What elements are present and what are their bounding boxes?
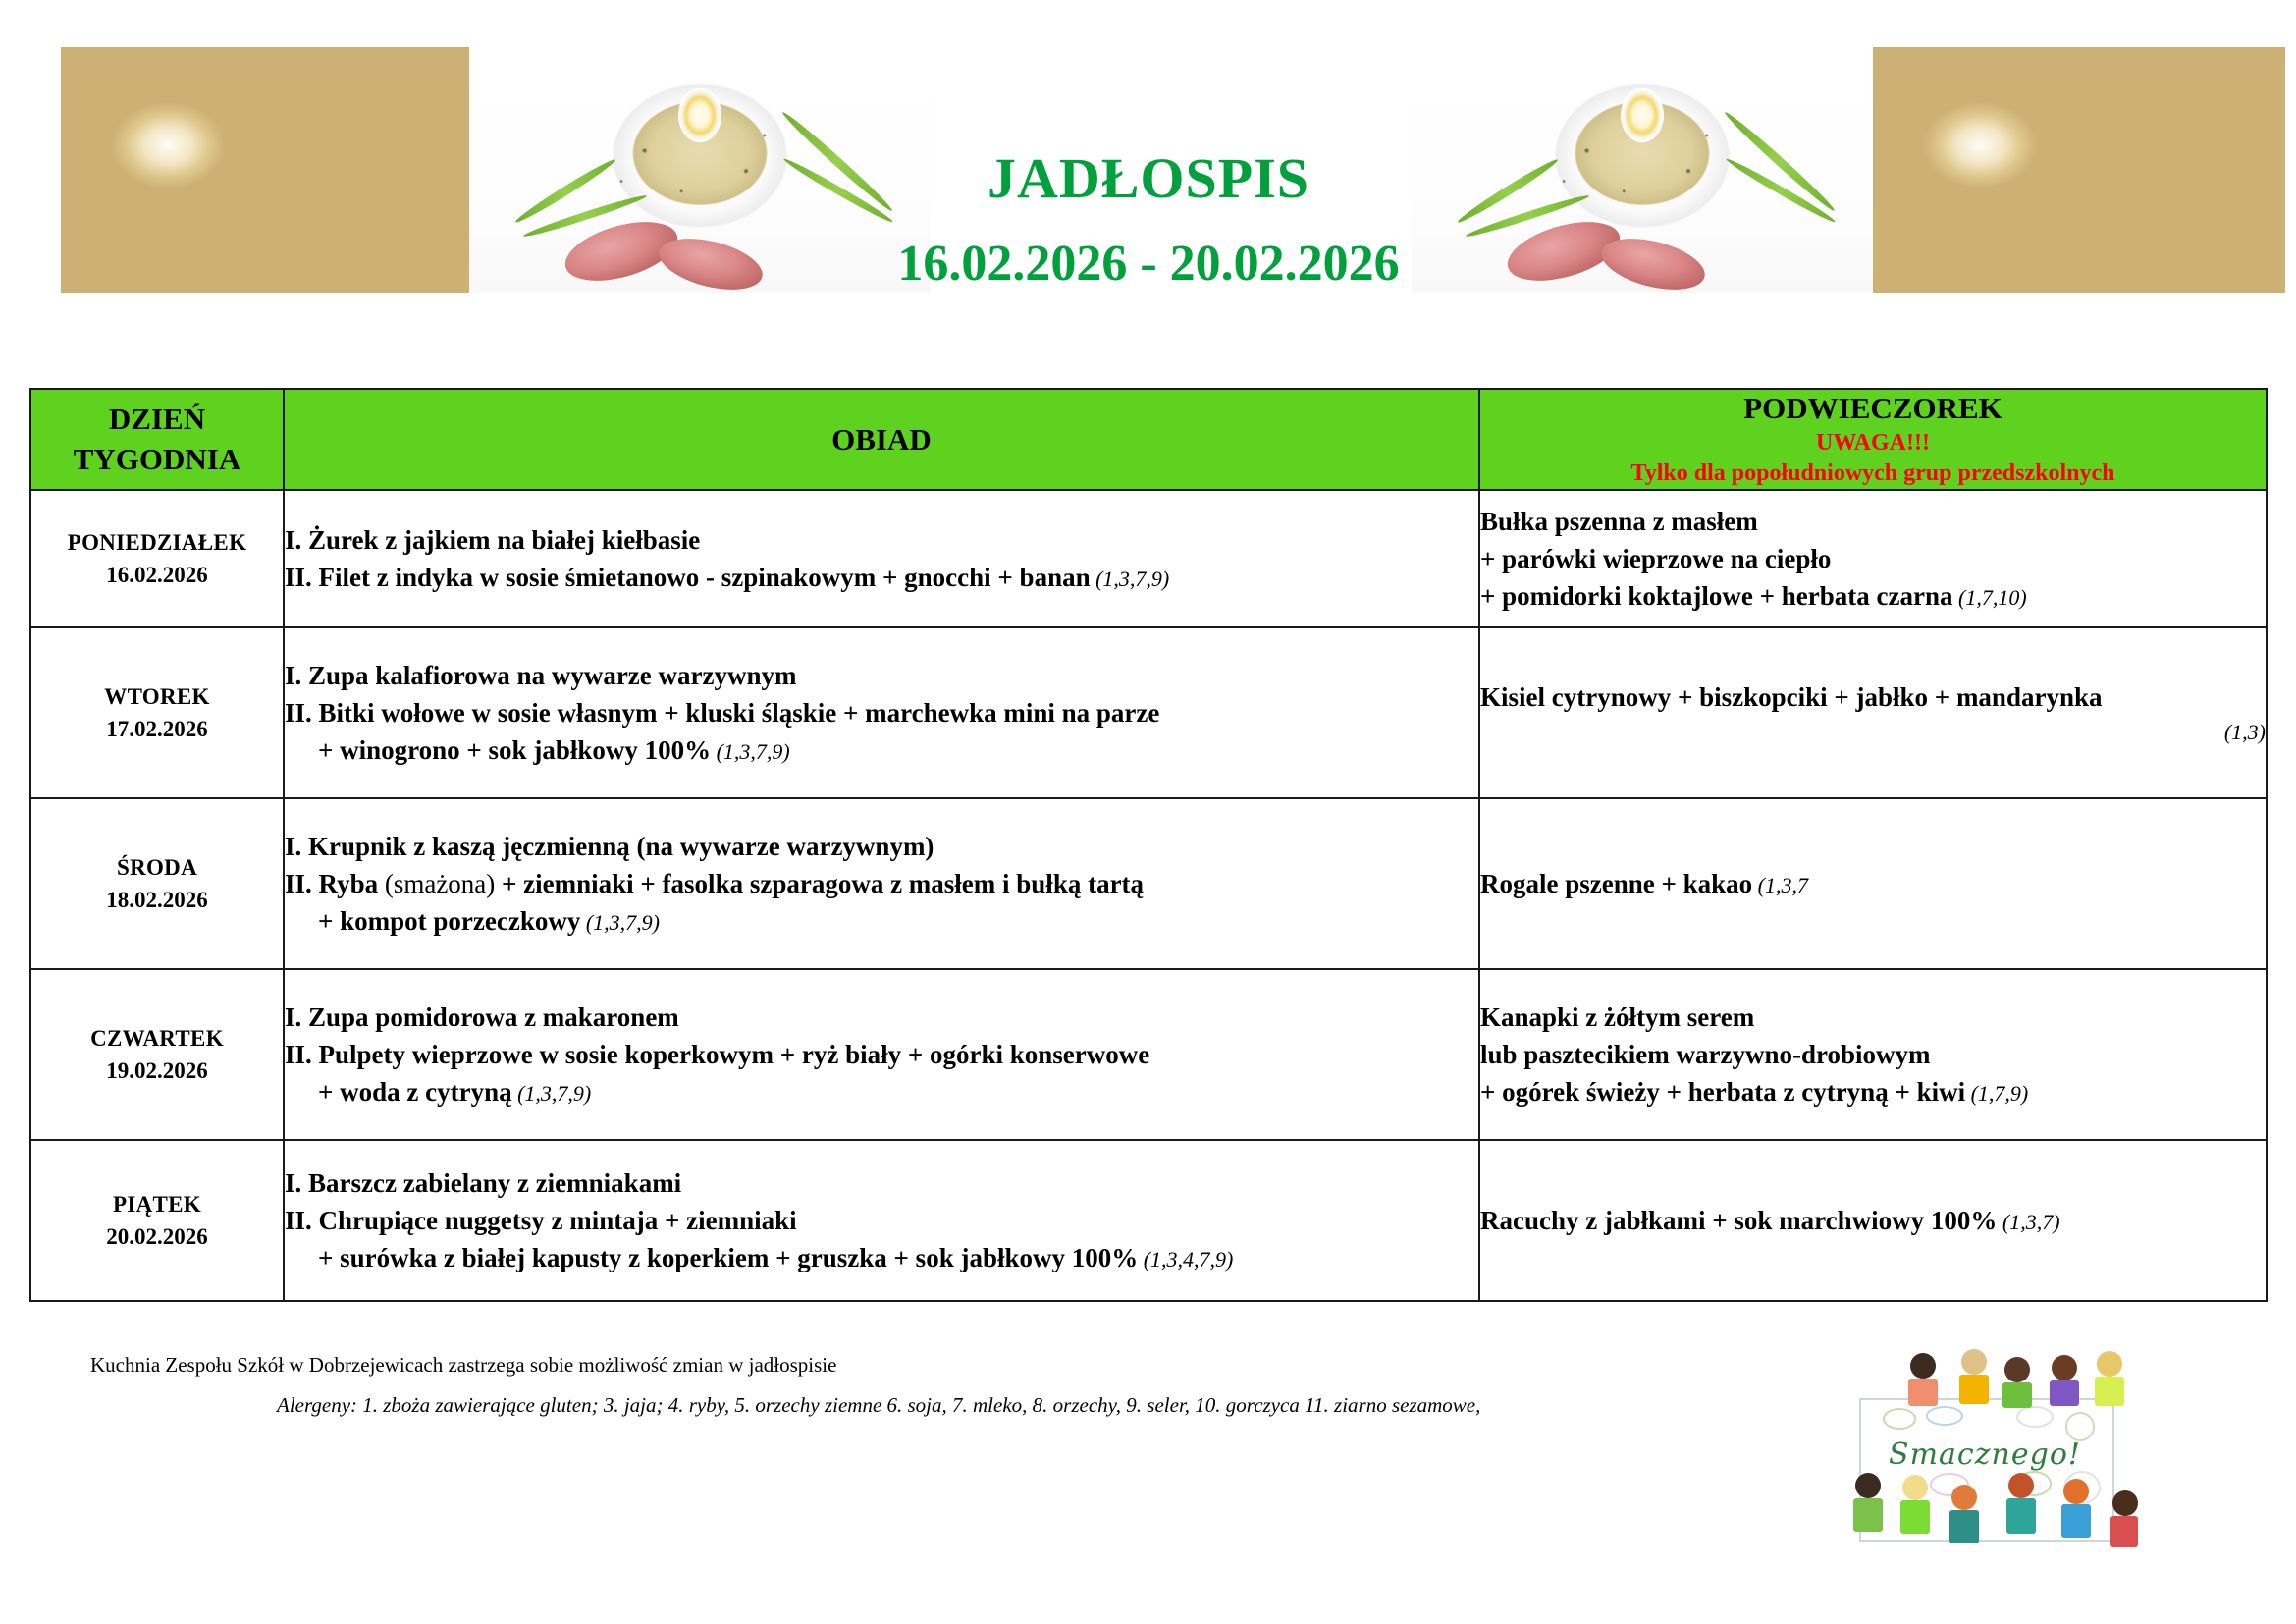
header-snack-warning: UWAGA!!! bbox=[1480, 428, 2266, 459]
day-cell: PIĄTEK20.02.2026 bbox=[30, 1140, 284, 1301]
menu-line: Kanapki z żółtym serem bbox=[1480, 999, 2266, 1036]
kid-body-1 bbox=[1908, 1379, 1938, 1406]
day-name: ŚRODA bbox=[31, 851, 283, 884]
kid-body-4 bbox=[2050, 1380, 2079, 1406]
snack-cell: Bułka pszenna z masłem+ parówki wieprzow… bbox=[1479, 490, 2267, 627]
allergen-code: (1,7,9) bbox=[1965, 1081, 2028, 1106]
day-date: 19.02.2026 bbox=[31, 1055, 283, 1087]
menu-line: II. Filet z indyka w sosie śmietanowo - … bbox=[285, 559, 1478, 596]
snack-cell: Kanapki z żółtym seremlub pasztecikiem w… bbox=[1479, 969, 2267, 1140]
menu-line: II. Bitki wołowe w sosie własnym + klusk… bbox=[285, 694, 1478, 731]
footer: Kuchnia Zespołu Szkół w Dobrzejewicach z… bbox=[90, 1351, 1818, 1421]
doodle-2 bbox=[1926, 1406, 1963, 1426]
kid-body-6 bbox=[1853, 1498, 1883, 1532]
doodle-1 bbox=[1883, 1408, 1916, 1430]
header-cell-lunch: OBIAD bbox=[284, 389, 1479, 490]
kid-head-4 bbox=[2052, 1355, 2077, 1380]
page-title-block: JADŁOSPIS 16.02.2026 - 20.02.2026 bbox=[844, 147, 1453, 292]
logo-text: Smacznego! bbox=[1859, 1437, 2110, 1472]
menu-line: II. Chrupiące nuggetsy z mintaja + ziemn… bbox=[285, 1202, 1478, 1239]
day-date: 16.02.2026 bbox=[31, 559, 283, 591]
kid-head-8 bbox=[1951, 1485, 1977, 1510]
header-banner: JADŁOSPIS 16.02.2026 - 20.02.2026 bbox=[0, 0, 2296, 363]
day-name: PIĄTEK bbox=[31, 1188, 283, 1220]
kid-body-5 bbox=[2095, 1377, 2124, 1406]
header-day-line1: DZIEŃ bbox=[109, 402, 205, 436]
lunch-cell: I. Żurek z jajkiem na białej kiełbasieII… bbox=[284, 490, 1479, 627]
menu-line: I. Zupa kalafiorowa na wywarze warzywnym bbox=[285, 657, 1478, 694]
menu-line: II. Ryba (smażona) + ziemniaki + fasolka… bbox=[285, 865, 1478, 902]
header-cell-day: DZIEŃ TYGODNIA bbox=[30, 389, 284, 490]
lunch-cell: I. Zupa pomidorowa z makaronemII. Pulpet… bbox=[284, 969, 1479, 1140]
kid-body-2 bbox=[1959, 1375, 1989, 1404]
pastry-photo-left bbox=[61, 47, 473, 293]
kid-body-9 bbox=[2006, 1498, 2036, 1534]
doodle-3 bbox=[2016, 1406, 2054, 1428]
allergen-code: (1,3,7,9) bbox=[711, 739, 790, 764]
allergen-code: (1,7,10) bbox=[1953, 585, 2027, 610]
menu-line: Bułka pszenna z masłem bbox=[1480, 503, 2266, 540]
menu-table-body: PONIEDZIAŁEK16.02.2026I. Żurek z jajkiem… bbox=[30, 490, 2267, 1301]
header-lunch-label: OBIAD bbox=[285, 422, 1478, 458]
allergen-code: (1,3,7,9) bbox=[1091, 567, 1170, 591]
snack-cell: Racuchy z jabłkami + sok marchwiowy 100%… bbox=[1479, 1140, 2267, 1301]
page-date-range: 16.02.2026 - 20.02.2026 bbox=[844, 236, 1453, 292]
menu-line: II. Pulpety wieprzowe w sosie koperkowym… bbox=[285, 1036, 1478, 1073]
menu-line: + surówka z białej kapusty z koperkiem +… bbox=[285, 1239, 1478, 1276]
kid-head-9 bbox=[2008, 1473, 2034, 1498]
allergen-code: (1,3,4,7,9) bbox=[1138, 1247, 1233, 1272]
day-cell: WTOREK17.02.2026 bbox=[30, 627, 284, 798]
footer-disclaimer: Kuchnia Zespołu Szkół w Dobrzejewicach z… bbox=[90, 1351, 1818, 1380]
menu-line: Racuchy z jabłkami + sok marchwiowy 100%… bbox=[1480, 1202, 2266, 1239]
menu-line: + kompot porzeczkowy (1,3,7,9) bbox=[285, 902, 1478, 940]
day-name: PONIEDZIAŁEK bbox=[31, 526, 283, 559]
kid-head-5 bbox=[2097, 1351, 2122, 1377]
menu-line: I. Barszcz zabielany z ziemniakami bbox=[285, 1164, 1478, 1202]
page-title: JADŁOSPIS bbox=[844, 147, 1453, 210]
menu-line: Kisiel cytrynowy + biszkopciki + jabłko … bbox=[1480, 678, 2266, 716]
kid-body-10 bbox=[2061, 1504, 2091, 1538]
day-date: 18.02.2026 bbox=[31, 884, 283, 916]
menu-line: + parówki wieprzowe na ciepło bbox=[1480, 540, 2266, 577]
menu-line: I. Krupnik z kaszą jęczmienną (na wywarz… bbox=[285, 828, 1478, 865]
table-row: PONIEDZIAŁEK16.02.2026I. Żurek z jajkiem… bbox=[30, 490, 2267, 627]
table-row: ŚRODA18.02.2026I. Krupnik z kaszą jęczmi… bbox=[30, 798, 2267, 969]
kid-head-1 bbox=[1910, 1353, 1936, 1379]
allergen-code: (1,3,7,9) bbox=[512, 1081, 592, 1106]
menu-table: DZIEŃ TYGODNIA OBIAD PODWIECZOREK UWAGA!… bbox=[29, 388, 2268, 1302]
header-day-line2: TYGODNIA bbox=[74, 442, 241, 476]
table-row: PIĄTEK20.02.2026I. Barszcz zabielany z z… bbox=[30, 1140, 2267, 1301]
header-snack-label: PODWIECZOREK bbox=[1480, 390, 2266, 428]
kid-body-11 bbox=[2110, 1516, 2138, 1547]
allergen-code: (1,3) bbox=[1480, 717, 2266, 747]
pastry-photo-right bbox=[1873, 47, 2285, 293]
kid-head-10 bbox=[2063, 1479, 2089, 1504]
menu-line: Rogale pszenne + kakao (1,3,7 bbox=[1480, 865, 2266, 902]
smacznego-logo: Smacznego! bbox=[1824, 1347, 2140, 1579]
day-cell: PONIEDZIAŁEK16.02.2026 bbox=[30, 490, 284, 627]
menu-line: lub pasztecikiem warzywno-drobiowym bbox=[1480, 1036, 2266, 1073]
lunch-cell: I. Zupa kalafiorowa na wywarze warzywnym… bbox=[284, 627, 1479, 798]
menu-line: + pomidorki koktajlowe + herbata czarna … bbox=[1480, 577, 2266, 615]
menu-line-plain: (smażona) bbox=[385, 869, 495, 898]
menu-line: + winogrono + sok jabłkowy 100% (1,3,7,9… bbox=[285, 731, 1478, 769]
table-row: WTOREK17.02.2026I. Zupa kalafiorowa na w… bbox=[30, 627, 2267, 798]
table-header-row: DZIEŃ TYGODNIA OBIAD PODWIECZOREK UWAGA!… bbox=[30, 389, 2267, 490]
lunch-cell: I. Barszcz zabielany z ziemniakamiII. Ch… bbox=[284, 1140, 1479, 1301]
kid-body-8 bbox=[1949, 1510, 1979, 1543]
allergen-code: (1,3,7) bbox=[1997, 1210, 2059, 1234]
footer-allergen-legend: Alergeny: 1. zboża zawierające gluten; 3… bbox=[277, 1391, 1818, 1420]
snack-cell: Kisiel cytrynowy + biszkopciki + jabłko … bbox=[1479, 627, 2267, 798]
kid-head-6 bbox=[1855, 1473, 1881, 1498]
snack-cell: Rogale pszenne + kakao (1,3,7 bbox=[1479, 798, 2267, 969]
day-cell: ŚRODA18.02.2026 bbox=[30, 798, 284, 969]
kid-body-7 bbox=[1900, 1500, 1930, 1534]
header-cell-snack: PODWIECZOREK UWAGA!!! Tylko dla popołudn… bbox=[1479, 389, 2267, 490]
kid-head-3 bbox=[2004, 1357, 2030, 1382]
menu-line: I. Zupa pomidorowa z makaronem bbox=[285, 999, 1478, 1036]
day-cell: CZWARTEK19.02.2026 bbox=[30, 969, 284, 1140]
menu-line: + woda z cytryną (1,3,7,9) bbox=[285, 1073, 1478, 1110]
header-snack-subtitle: Tylko dla popołudniowych grup przedszkol… bbox=[1480, 459, 2266, 489]
kid-head-2 bbox=[1961, 1349, 1987, 1375]
soup-photo-right bbox=[1412, 39, 1873, 293]
menu-line: + ogórek świeży + herbata z cytryną + ki… bbox=[1480, 1073, 2266, 1110]
kid-head-11 bbox=[2112, 1490, 2138, 1516]
menu-line: I. Żurek z jajkiem na białej kiełbasie bbox=[285, 521, 1478, 559]
allergen-code: (1,3,7 bbox=[1752, 873, 1808, 897]
day-name: WTOREK bbox=[31, 680, 283, 713]
kid-body-3 bbox=[2002, 1382, 2032, 1408]
day-date: 20.02.2026 bbox=[31, 1220, 283, 1253]
day-date: 17.02.2026 bbox=[31, 713, 283, 745]
table-row: CZWARTEK19.02.2026I. Zupa pomidorowa z m… bbox=[30, 969, 2267, 1140]
allergen-code: (1,3,7,9) bbox=[580, 910, 660, 935]
kid-head-7 bbox=[1902, 1475, 1928, 1500]
day-name: CZWARTEK bbox=[31, 1022, 283, 1055]
lunch-cell: I. Krupnik z kaszą jęczmienną (na wywarz… bbox=[284, 798, 1479, 969]
